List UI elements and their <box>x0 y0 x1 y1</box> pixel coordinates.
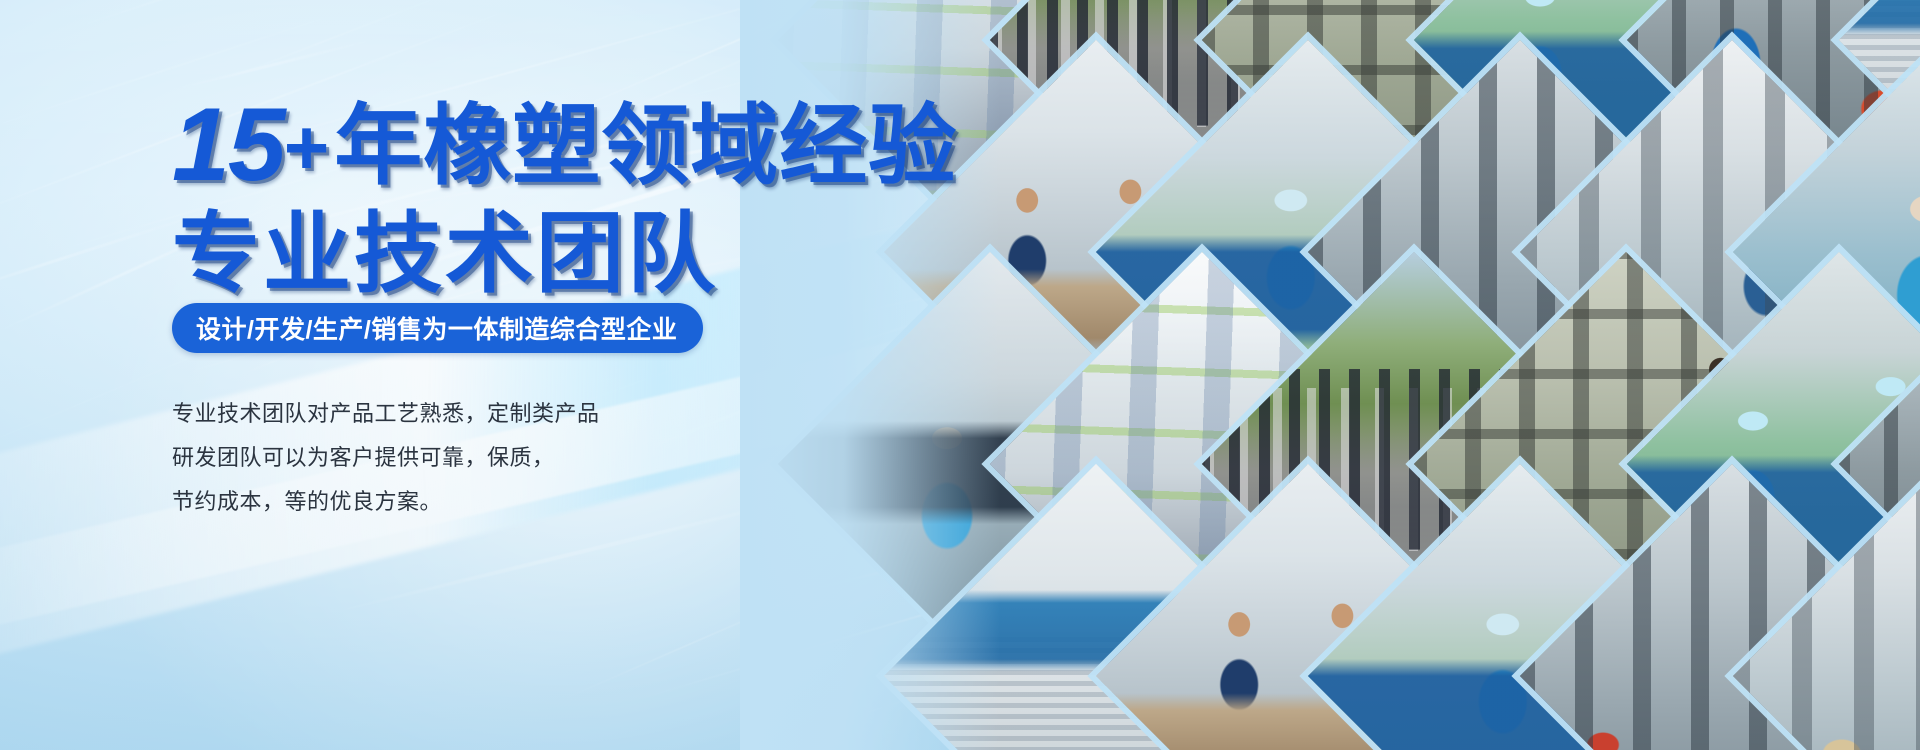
promo-banner: 15+年橡塑领域经验 专业技术团队 设计/开发/生产/销售为一体制造综合型企业 … <box>0 0 1920 750</box>
headline: 15+年橡塑领域经验 专业技术团队 <box>172 96 932 296</box>
description-line-2: 研发团队可以为客户提供可靠，保质， <box>172 436 772 480</box>
headline-line-1: 15+年橡塑领域经验 <box>172 96 932 196</box>
headline-number: 15 <box>172 96 284 196</box>
headline-line-2: 专业技术团队 <box>172 212 932 296</box>
headline-plus-sign: + <box>284 110 331 185</box>
description-paragraph: 专业技术团队对产品工艺熟悉，定制类产品 研发团队可以为客户提供可靠，保质， 节约… <box>172 392 772 524</box>
banner-content: 15+年橡塑领域经验 专业技术团队 设计/开发/生产/销售为一体制造综合型企业 … <box>0 0 790 750</box>
description-line-1: 专业技术团队对产品工艺熟悉，定制类产品 <box>172 392 772 436</box>
service-scope-badge-label: 设计/开发/生产/销售为一体制造综合型企业 <box>196 310 677 346</box>
headline-line-1-text: 年橡塑领域经验 <box>334 96 957 195</box>
description-line-3: 节约成本，等的优良方案。 <box>172 480 772 524</box>
service-scope-badge[interactable]: 设计/开发/生产/销售为一体制造综合型企业 <box>172 303 703 353</box>
